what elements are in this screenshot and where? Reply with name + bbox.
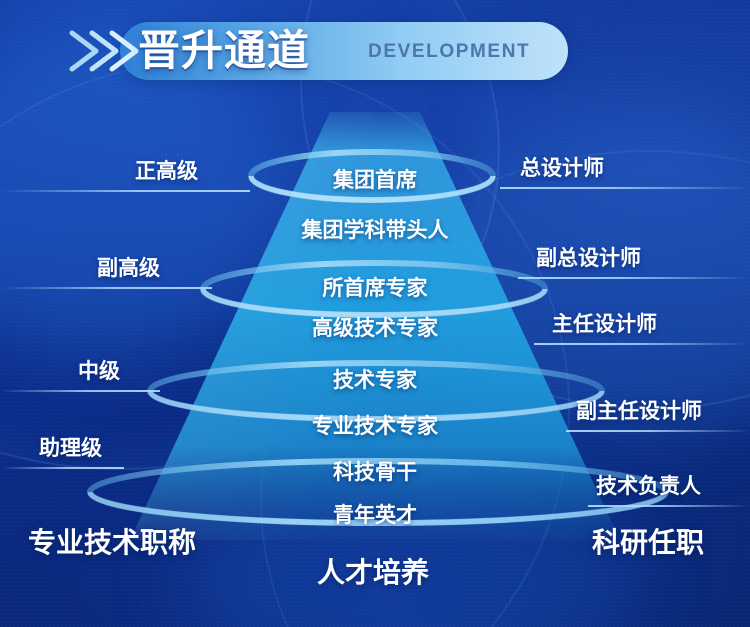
right-level-label-4: 副主任设计师 <box>576 395 702 425</box>
caption-right: 科研任职 <box>592 521 704 561</box>
promotion-channel-infographic: 晋升通道 DEVELOPMENT 正高级 副高级 中级 助理级 总设计师 副总设… <box>0 0 750 627</box>
page-subtitle: DEVELOPMENT <box>368 40 530 64</box>
center-item-6: 专业技术专家 <box>165 410 585 440</box>
right-rule-5 <box>588 505 750 507</box>
page-title: 晋升通道 <box>138 24 310 78</box>
center-item-1: 集团首席 <box>165 164 585 194</box>
center-item-5: 技术专家 <box>165 364 585 394</box>
center-item-8: 青年英才 <box>165 499 585 529</box>
header: 晋升通道 DEVELOPMENT <box>0 0 750 104</box>
right-level-row-5: 技术负责人 <box>588 470 750 526</box>
left-level-label-4: 助理级 <box>39 432 102 462</box>
right-rule-3 <box>534 343 750 345</box>
left-level-row-3: 中级 <box>0 355 160 411</box>
caption-center: 人才培养 <box>317 551 429 591</box>
center-item-2: 集团学科带头人 <box>165 214 585 244</box>
right-rule-4 <box>566 430 750 432</box>
center-item-3: 所首席专家 <box>165 272 585 302</box>
background-glow-bottom <box>180 470 640 627</box>
center-item-4: 高级技术专家 <box>165 312 585 342</box>
left-level-label-3: 中级 <box>78 355 120 385</box>
center-item-7: 科技骨干 <box>165 456 585 486</box>
left-rule-4 <box>0 467 124 469</box>
right-level-label-2: 副总设计师 <box>536 242 641 272</box>
right-level-label-5: 技术负责人 <box>596 470 701 500</box>
left-level-row-4: 助理级 <box>0 432 124 488</box>
right-level-row-4: 副主任设计师 <box>566 395 750 451</box>
caption-left: 专业技术职称 <box>28 521 196 561</box>
left-level-label-2: 副高级 <box>97 252 160 282</box>
left-rule-3 <box>0 390 160 392</box>
